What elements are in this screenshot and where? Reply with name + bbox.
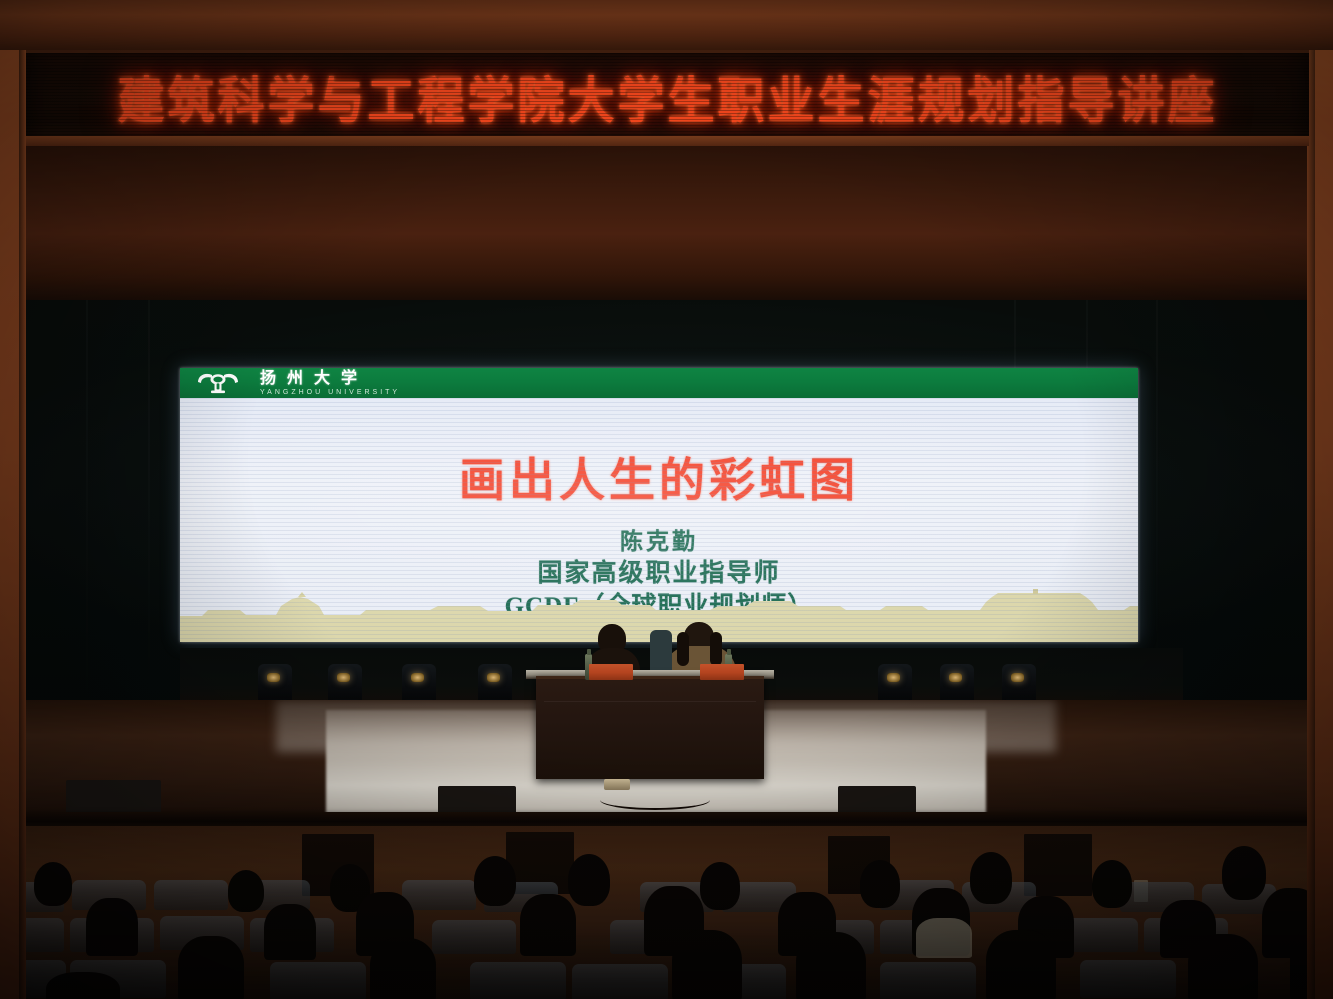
name-placard (700, 664, 744, 680)
stage-light-icon (940, 664, 974, 702)
ceiling-wood-beam (0, 0, 1333, 50)
led-banner-lower-trim (26, 136, 1309, 146)
yangzhou-university-logo-icon (192, 370, 244, 396)
slide-subtitle-speaker: 陈克勤 (180, 522, 1138, 556)
slide-subtitle-credential: 国家高级职业指导师 (180, 553, 1138, 589)
led-banner: 建筑科学与工程学院大学生职业生涯规划指导讲座 (26, 50, 1309, 143)
university-name-en: YANGZHOU UNIVERSITY (260, 389, 400, 396)
stage-light-icon (878, 664, 912, 702)
university-name-cn: 扬州大学 (260, 371, 400, 387)
stage-light-icon (258, 664, 292, 702)
proscenium-upper-wall (26, 146, 1309, 306)
slide-body: 画出人生的彩虹图 陈克勤 国家高级职业指导师 GCDF（全球职业规划师） (180, 398, 1138, 642)
stage-light-icon (402, 664, 436, 702)
name-placard (589, 664, 633, 680)
lecture-hall-photo: 扬州大学 YANGZHOU UNIVERSITY 画出人生的彩虹图 陈克勤 国家… (0, 0, 1333, 999)
projection-screen: 扬州大学 YANGZHOU UNIVERSITY 画出人生的彩虹图 陈克勤 国家… (180, 368, 1138, 642)
presenter-table (536, 676, 764, 779)
stage-light-icon (478, 664, 512, 702)
led-banner-text: 建筑科学与工程学院大学生职业生涯规划指导讲座 (118, 59, 1218, 132)
stage-light-icon (1002, 664, 1036, 702)
side-wall-right (1307, 0, 1333, 999)
auditorium-house-wall (0, 826, 1333, 999)
stage-light-icon (328, 664, 362, 702)
side-wall-left (0, 0, 26, 999)
stage-cable (600, 790, 710, 810)
stage-floor-object (604, 779, 630, 790)
slide-header-band: 扬州大学 YANGZHOU UNIVERSITY (180, 368, 1138, 398)
slide-title: 画出人生的彩虹图 (180, 444, 1138, 510)
